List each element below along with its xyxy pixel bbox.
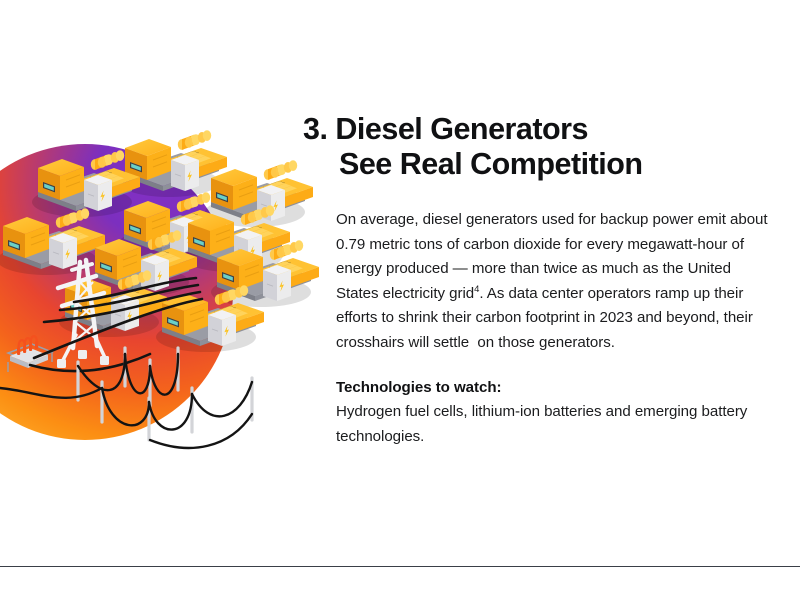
footer-divider <box>0 566 800 567</box>
technologies-to-watch-block: Technologies to watch: Hydrogen fuel cel… <box>303 376 773 450</box>
technologies-to-watch-heading: Technologies to watch: <box>336 376 773 401</box>
technologies-to-watch-text: Hydrogen fuel cells, lithium-ion batteri… <box>336 400 773 449</box>
text-column: 3. Diesel Generators See Real Competitio… <box>303 112 773 449</box>
page-title: 3. Diesel Generators See Real Competitio… <box>303 112 773 182</box>
illustration-svg <box>0 110 310 470</box>
page-root: 3. Diesel Generators See Real Competitio… <box>0 0 800 600</box>
body-paragraph: On average, diesel generators used for b… <box>303 208 773 356</box>
diesel-generator-illustration <box>0 110 310 470</box>
